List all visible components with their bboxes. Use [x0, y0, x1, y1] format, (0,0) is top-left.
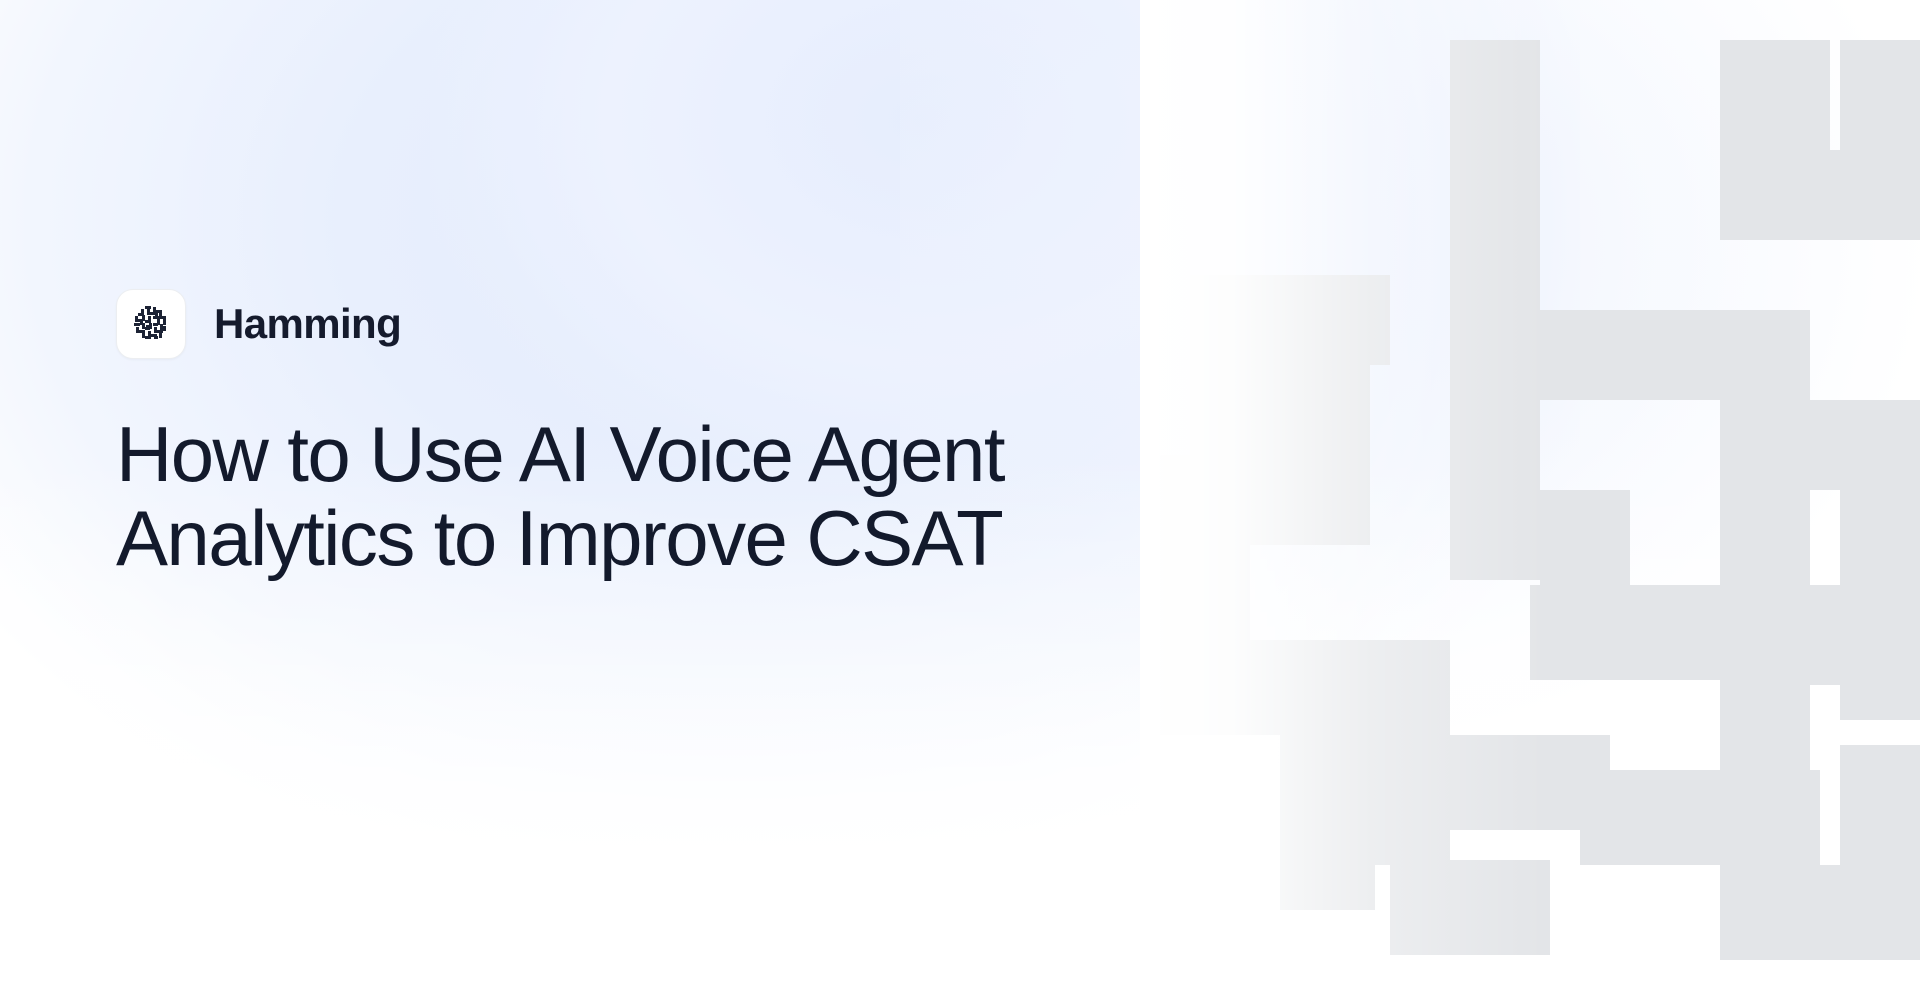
hamming-pixel-maze-icon	[129, 302, 173, 346]
brand-name: Hamming	[214, 303, 401, 345]
page-title: How to Use AI Voice Agent Analytics to I…	[116, 412, 1076, 580]
maze-pattern-decoration	[1140, 0, 1920, 1008]
cover-canvas: Hamming How to Use AI Voice Agent Analyt…	[0, 0, 1920, 1008]
page-title-line-1: How to Use AI Voice Agent	[116, 412, 1076, 496]
brand-row: Hamming	[116, 288, 1216, 360]
page-title-line-2: Analytics to Improve CSAT	[116, 496, 1076, 580]
cover-content: Hamming How to Use AI Voice Agent Analyt…	[116, 288, 1216, 633]
logo-badge	[116, 289, 186, 359]
maze-pattern-icon	[1140, 0, 1920, 1008]
